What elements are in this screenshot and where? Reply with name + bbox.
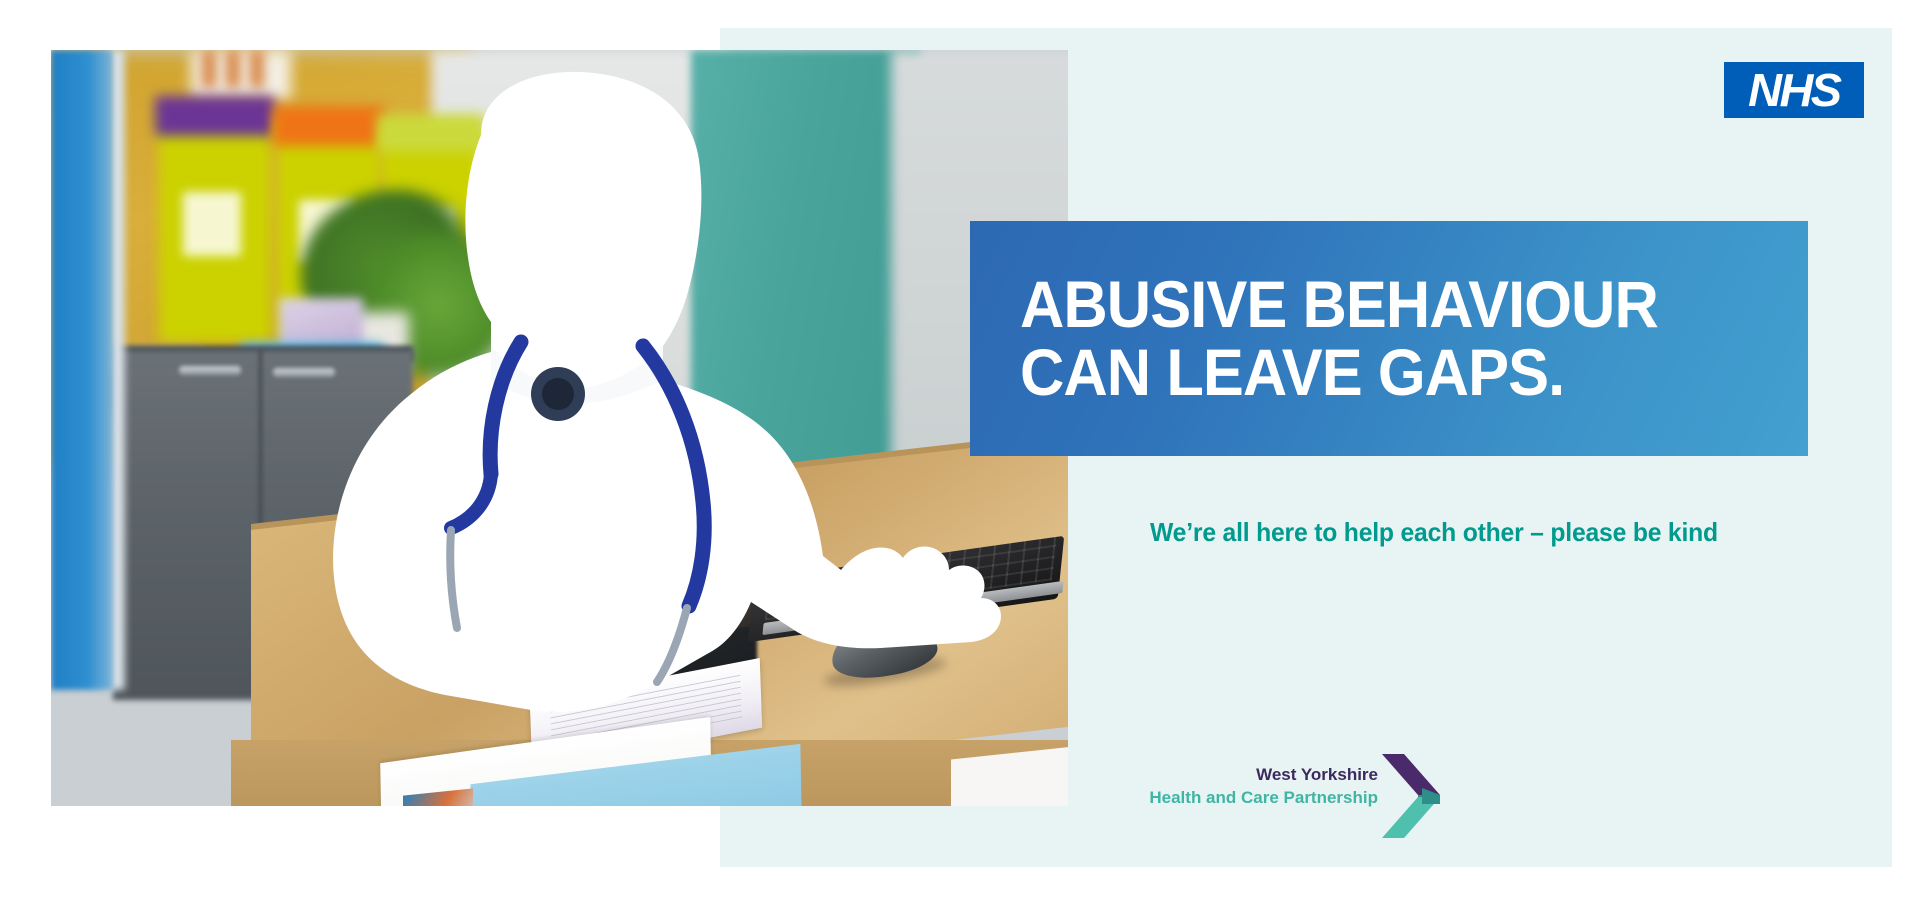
chevron-icon [1382,752,1440,840]
partnership-logo-text: West Yorkshire Health and Care Partnersh… [1149,764,1378,810]
headline-banner: ABUSIVE BEHAVIOUR CAN LEAVE GAPS. [970,221,1808,456]
partnership-name-line-1: West Yorkshire [1149,764,1378,787]
clinician-silhouette [51,50,1068,806]
subtitle-text: We’re all here to help each other – plea… [1150,517,1815,548]
photo-scene [51,50,1068,806]
nhs-logo: NHS [1724,62,1864,118]
headline-line-1: ABUSIVE BEHAVIOUR [1020,271,1753,338]
hero-photo [51,50,1068,806]
partnership-name-line-2: Health and Care Partnership [1149,787,1378,810]
west-yorkshire-partnership-logo: West Yorkshire Health and Care Partnersh… [1150,752,1440,840]
headline-line-2: CAN LEAVE GAPS. [1020,339,1753,406]
poster-canvas: NHS ABUSIVE BEHAVIOUR CAN LEAVE GAPS. We… [0,0,1920,900]
nhs-logo-text: NHS [1748,67,1839,113]
silhouette-svg [51,50,1068,806]
